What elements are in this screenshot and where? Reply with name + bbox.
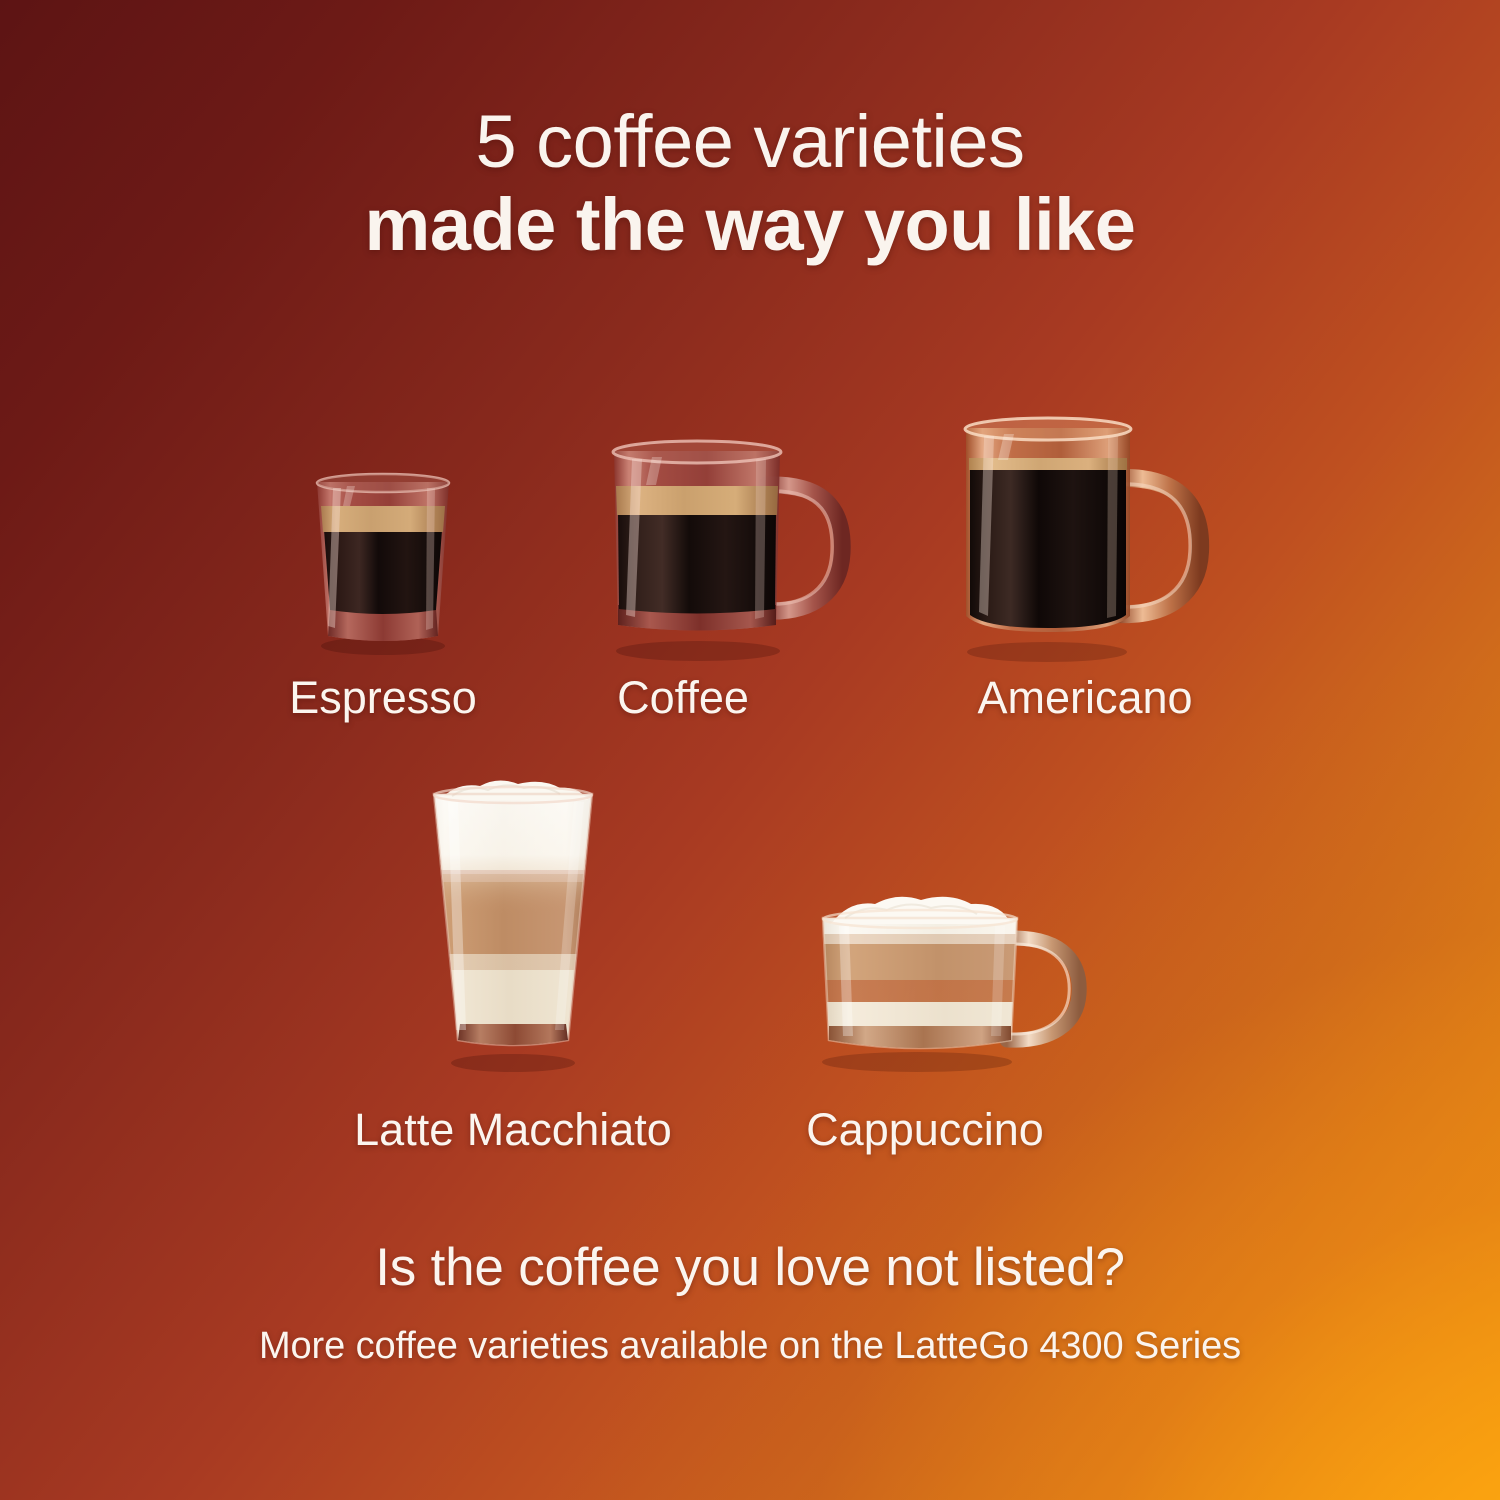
- drink-coffee: [598, 443, 868, 658]
- espresso-glass-icon: [303, 476, 463, 651]
- drink-latte-macchiato: [418, 778, 608, 1074]
- drink-label-americano: Americano: [885, 672, 1285, 724]
- drink-americano: [952, 420, 1217, 660]
- headline-line-1: 5 coffee varieties: [0, 104, 1500, 181]
- drink-cappuccino: [805, 890, 1095, 1075]
- latte-macchiato-glass-icon: [418, 778, 608, 1074]
- promo-banner: 5 coffee varieties made the way you like: [0, 0, 1500, 1500]
- americano-mug-icon: [952, 420, 1217, 660]
- coffee-mug-icon: [598, 443, 868, 658]
- cappuccino-cup-icon: [805, 890, 1095, 1075]
- footer-question: Is the coffee you love not listed?: [0, 1237, 1500, 1298]
- page-title: 5 coffee varieties made the way you like: [0, 104, 1500, 264]
- headline-line-2: made the way you like: [0, 187, 1500, 264]
- drink-label-cappuccino: Cappuccino: [740, 1104, 1110, 1156]
- drink-label-coffee: Coffee: [498, 672, 868, 724]
- footer-subtext: More coffee varieties available on the L…: [0, 1325, 1500, 1368]
- drink-label-latte-macchiato: Latte Macchiato: [313, 1104, 713, 1156]
- drink-espresso: [303, 476, 463, 651]
